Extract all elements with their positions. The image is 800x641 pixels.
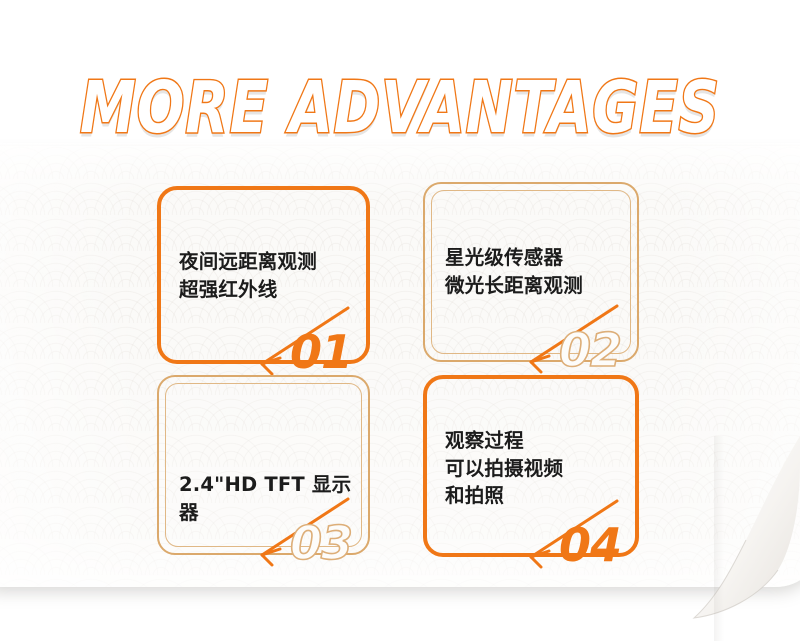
card-02-text: 星光级传感器 微光长距离观测 xyxy=(445,244,625,299)
paper-panel xyxy=(0,143,800,587)
advantage-card-04[interactable]: 观察过程 可以拍摄视频 和拍照 04 xyxy=(423,375,639,557)
card-03-frame xyxy=(157,375,370,555)
advantage-card-02[interactable]: 星光级传感器 微光长距离观测 02 xyxy=(423,182,639,362)
card-03-text: 2.4"HD TFT 显示器 xyxy=(179,471,356,526)
card-01-text: 夜间远距离观测 超强红外线 xyxy=(179,248,356,303)
advantages-poster: MORE ADVANTAGES MORE ADVANTAGES 夜间远距离观测 … xyxy=(0,0,800,641)
card-04-text: 观察过程 可以拍摄视频 和拍照 xyxy=(445,427,625,510)
panel-top-edge xyxy=(0,143,800,146)
page-title-shadow: MORE ADVANTAGES xyxy=(80,74,720,142)
panel-light-overlay xyxy=(0,143,800,587)
page-title-text: MORE ADVANTAGES xyxy=(80,74,720,142)
page-title: MORE ADVANTAGES MORE ADVANTAGES xyxy=(0,74,800,142)
advantage-card-03[interactable]: 2.4"HD TFT 显示器 03 xyxy=(157,375,370,555)
advantage-card-01[interactable]: 夜间远距离观测 超强红外线 01 xyxy=(157,186,370,364)
